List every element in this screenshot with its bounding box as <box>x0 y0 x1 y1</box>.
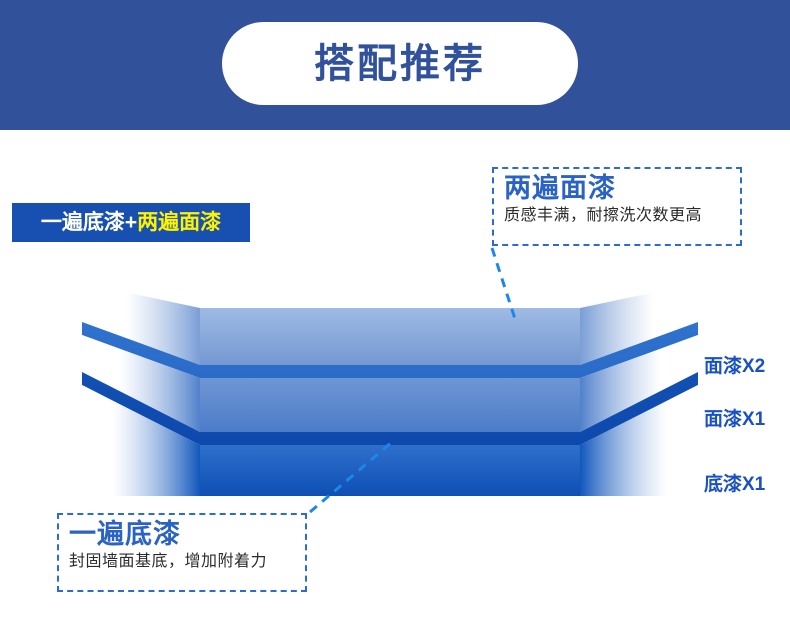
connector-line-topcoat <box>492 248 516 322</box>
badge-primary-text: 一遍底漆+ <box>41 212 137 233</box>
badge-highlight-text: 两遍面漆 <box>137 212 221 233</box>
layer1-right-wing <box>580 283 698 365</box>
callout-topcoat-subtitle: 质感丰满，耐擦洗次数更高 <box>504 206 730 227</box>
callout-primer-subtitle: 封固墙面基底，增加附着力 <box>69 552 295 573</box>
layer2-right-wing <box>580 335 698 432</box>
callout-primer-title: 一遍底漆 <box>69 519 295 550</box>
callout-topcoat-title: 两遍面漆 <box>504 173 730 204</box>
separator-stripe-2 <box>82 372 698 445</box>
side-label-topcoat-1: 面漆X1 <box>704 410 765 429</box>
page-title: 搭配推荐 <box>314 44 486 84</box>
combo-badge: 一遍底漆+两遍面漆 <box>12 203 250 242</box>
layer1-back-face <box>200 308 580 365</box>
connector-line-primer <box>310 442 392 512</box>
side-label-primer-1: 底漆X1 <box>704 475 765 494</box>
side-label-topcoat-2: 面漆X2 <box>704 357 765 376</box>
layer2-back-face <box>200 378 580 432</box>
layer2-left-wing <box>82 335 200 432</box>
layer3-right-wing <box>580 385 698 496</box>
layer1-left-wing <box>82 283 200 365</box>
callout-topcoat: 两遍面漆 质感丰满，耐擦洗次数更高 <box>492 167 742 246</box>
layer3-left-wing <box>82 385 200 496</box>
layer3-back-face <box>200 445 580 496</box>
callout-primer: 一遍底漆 封固墙面基底，增加附着力 <box>57 513 307 592</box>
separator-stripe-1 <box>82 322 698 378</box>
title-pill: 搭配推荐 <box>222 22 578 105</box>
